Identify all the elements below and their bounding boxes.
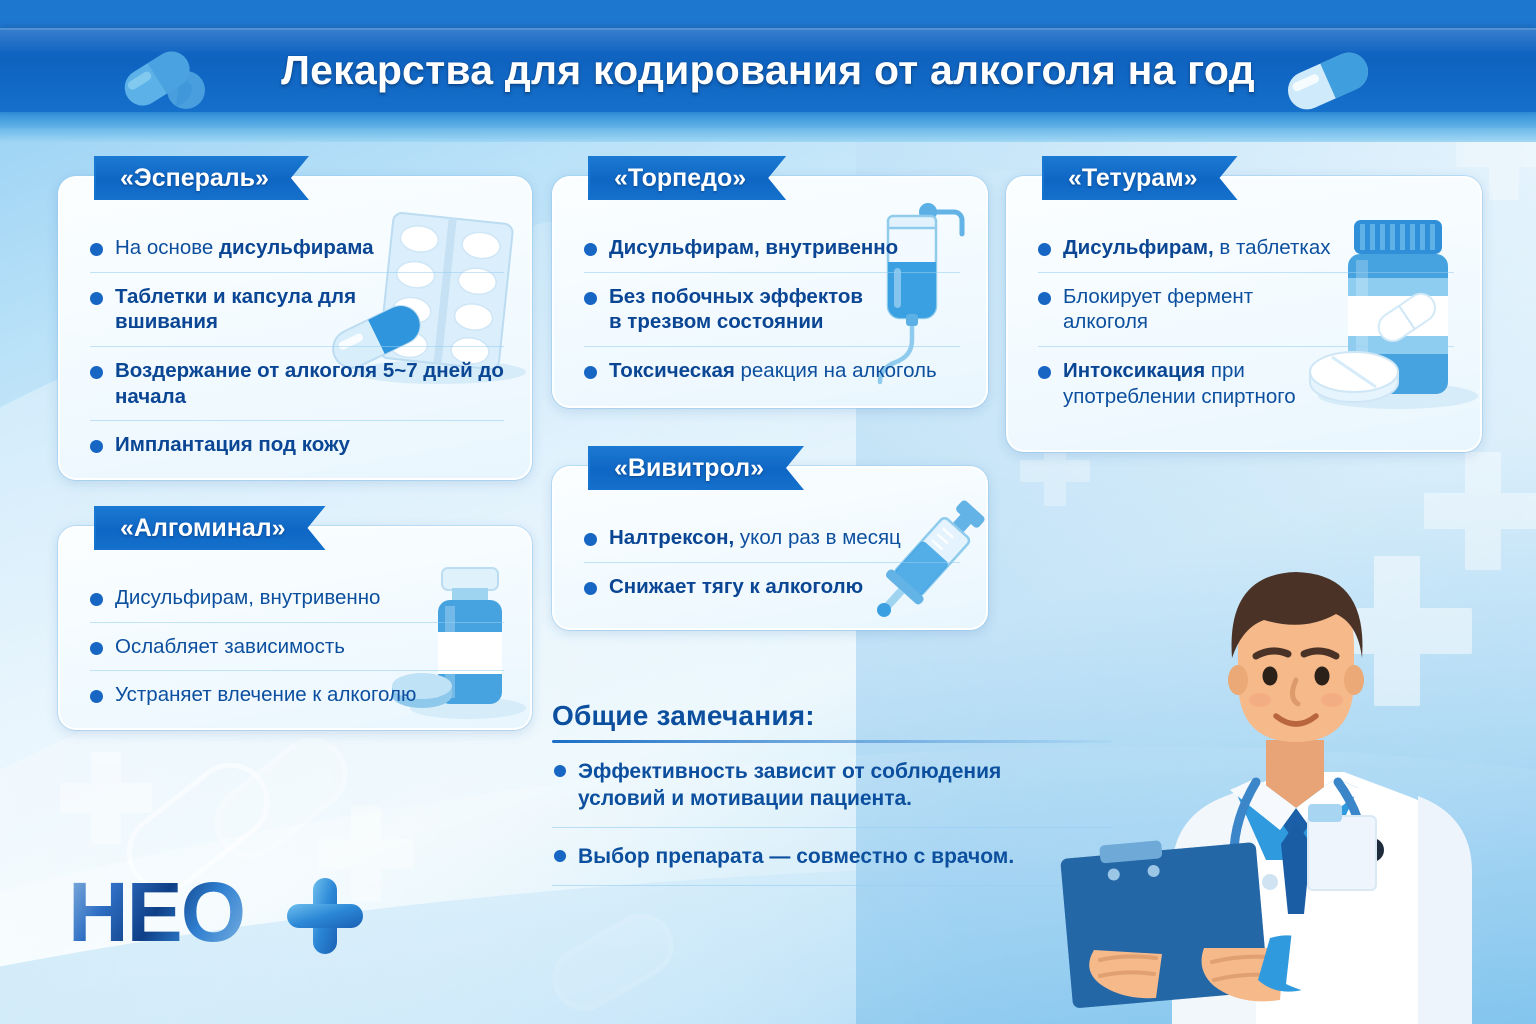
bullet-icon — [90, 366, 103, 379]
bullet-icon — [90, 243, 103, 256]
bullet-icon — [90, 593, 103, 606]
logo-text: НЕО — [68, 865, 244, 959]
bullet-icon — [584, 582, 597, 595]
list-item-label: Снижает тягу к алкоголю — [609, 574, 863, 600]
card-title-teturam: «Тетурам» — [1042, 156, 1238, 200]
bullet-icon — [584, 533, 597, 546]
list-item-label: Дисульфирам, внутривенно — [609, 235, 898, 261]
bullet-icon — [584, 243, 597, 256]
card-items-esperal: На основе дисульфирама Таблетки и капсул… — [60, 224, 530, 469]
card-title-esperal: «Эспераль» — [94, 156, 309, 200]
card-title-torpedo: «Торпедо» — [588, 156, 786, 200]
bullet-icon — [90, 292, 103, 305]
list-item-label: Блокирует фермент алкоголя — [1063, 284, 1278, 335]
page-title: Лекарства для кодирования от алкоголя на… — [0, 28, 1536, 112]
list-item: Интоксикация при употреблении спиртного — [1038, 347, 1454, 420]
general-notes-section: Общие замечания: Эффективность зависит о… — [552, 700, 1112, 886]
list-item-label: Таблетки и капсула для вшивания — [115, 284, 365, 335]
list-item-label: Без побочных эффектов в трезвом состояни… — [609, 284, 869, 335]
bullet-icon — [90, 440, 103, 453]
list-item: Дисульфирам, в таблетках — [1038, 224, 1454, 273]
list-item: Без побочных эффектов в трезвом состояни… — [584, 273, 960, 347]
card-items-teturam: Дисульфирам, в таблетках Блокирует ферме… — [1008, 224, 1480, 420]
card-items-algominal: Дисульфирам, внутривенно Ослабляет завис… — [60, 574, 530, 719]
list-item-label: Ослабляет зависимость — [115, 634, 345, 660]
note-label: Выбор препарата — совместно с врачом. — [578, 843, 1014, 870]
list-item-label: Токсическая реакция на алкоголь — [609, 358, 937, 384]
card-algominal: «Алгоминал» Дисульфирам, внутривенно Осл… — [58, 526, 532, 730]
list-item-label: Интоксикация при употреблении спиртного — [1063, 358, 1383, 409]
list-item: Снижает тягу к алкоголю — [584, 563, 960, 611]
note-item: Эффективность зависит от соблюдения усло… — [552, 743, 1112, 829]
infographic-poster: Лекарства для кодирования от алкоголя на… — [0, 0, 1536, 1024]
bullet-icon — [554, 850, 566, 862]
card-items-vivitrol: Налтрексон, укол раз в месяц Снижает тяг… — [554, 514, 986, 610]
card-title-vivitrol: «Вивитрол» — [588, 446, 804, 490]
list-item: Дисульфирам, внутривенно — [90, 574, 504, 623]
list-item: Блокирует фермент алкоголя — [1038, 273, 1454, 347]
list-item: Имплантация под кожу — [90, 421, 504, 469]
list-item: Устраняет влечение к алкоголю — [90, 671, 504, 719]
list-item: Токсическая реакция на алкоголь — [584, 347, 960, 395]
bullet-icon — [1038, 292, 1051, 305]
list-item-label: Устраняет влечение к алкоголю — [115, 682, 416, 708]
list-item: Налтрексон, укол раз в месяц — [584, 514, 960, 563]
card-items-torpedo: Дисульфирам, внутривенно Без побочных эф… — [554, 224, 986, 395]
bullet-icon — [1038, 366, 1051, 379]
list-item-label: Налтрексон, укол раз в месяц — [609, 525, 901, 551]
bullet-icon — [90, 642, 103, 655]
list-item-label: Имплантация под кожу — [115, 432, 350, 458]
card-title-algominal: «Алгоминал» — [94, 506, 326, 550]
header-band-lower-glow — [0, 112, 1536, 142]
bullet-icon — [584, 366, 597, 379]
list-item-label: Воздержание от алкоголя 5~7 дней до нача… — [115, 358, 504, 409]
note-label: Эффективность зависит от соблюдения усло… — [578, 758, 1008, 813]
bullet-icon — [90, 690, 103, 703]
card-esperal: «Эспераль» На осн — [58, 176, 532, 480]
card-teturam: «Тетурам» — [1006, 176, 1482, 452]
list-item: Дисульфирам, внутривенно — [584, 224, 960, 273]
list-item: Ослабляет зависимость — [90, 623, 504, 672]
note-item: Выбор препарата — совместно с врачом. — [552, 828, 1112, 886]
card-vivitrol: «Вивитрол» Налтрексон, укол раз в месяц — [552, 466, 988, 630]
card-torpedo: «Торпедо» Дисульфирам, внутривенно Без п… — [552, 176, 988, 408]
notes-title: Общие замечания: — [552, 700, 1112, 732]
list-item: Таблетки и капсула для вшивания — [90, 273, 504, 347]
bullet-icon — [584, 292, 597, 305]
list-item-label: На основе дисульфирама — [115, 235, 374, 261]
list-item-label: Дисульфирам, внутривенно — [115, 585, 380, 611]
doctor-with-clipboard-illustration — [1060, 520, 1530, 1024]
list-item: На основе дисульфирама — [90, 224, 504, 273]
bullet-icon — [554, 765, 566, 777]
list-item: Воздержание от алкоголя 5~7 дней до нача… — [90, 347, 504, 421]
logo: НЕО — [68, 866, 368, 958]
plus-icon — [283, 874, 367, 958]
bullet-icon — [1038, 243, 1051, 256]
list-item-label: Дисульфирам, в таблетках — [1063, 235, 1331, 261]
